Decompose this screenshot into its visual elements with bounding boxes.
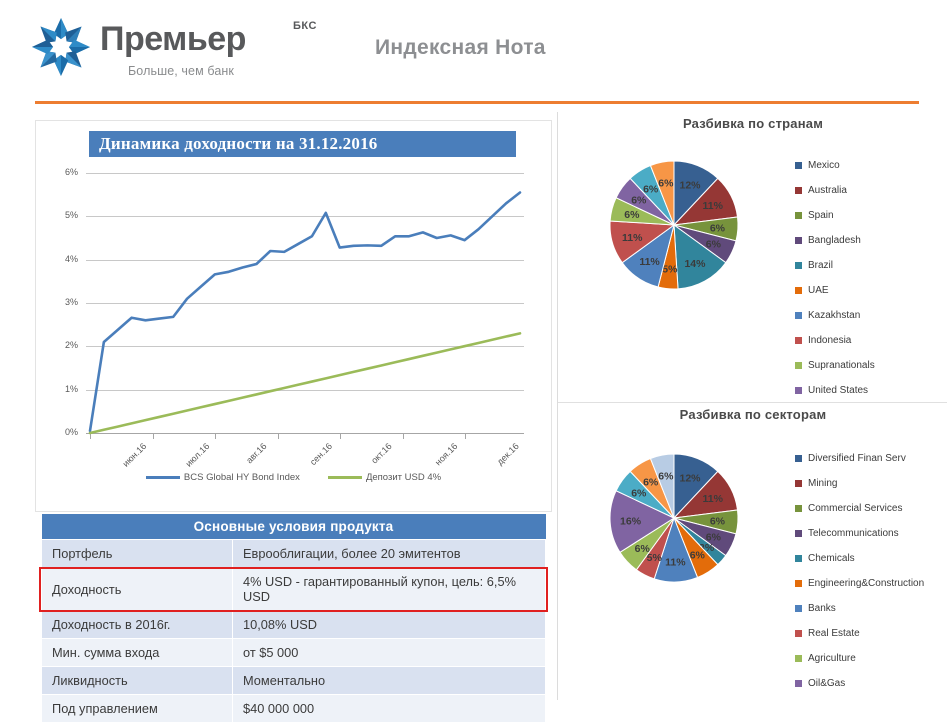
pie-slice-value-label: 11% bbox=[703, 200, 724, 212]
pie-chart: 12%11%6%6%14%5%11%11%6%6%6%6% bbox=[608, 159, 740, 291]
terms-row-key: Мин. сумма входа bbox=[42, 639, 233, 667]
terms-table-body: ПортфельЕврооблигации, более 20 эмитенто… bbox=[42, 540, 546, 723]
pie-slice-value-label: 6% bbox=[643, 476, 659, 488]
pie-slice-value-label: 6% bbox=[706, 239, 722, 251]
legend-item: BCS Global HY Bond Index bbox=[146, 472, 300, 483]
logo-tagline: Больше, чем банк bbox=[128, 64, 234, 78]
legend-item: Diversified Finan Serv bbox=[795, 446, 924, 471]
page-title: Индексная Нота bbox=[375, 36, 546, 60]
product-terms-table: Основные условия продукта ПортфельЕврооб… bbox=[41, 514, 546, 723]
legend-swatch bbox=[795, 212, 802, 219]
pie-chart: 12%11%6%6%3%6%11%5%6%16%6%6%6% bbox=[608, 452, 740, 584]
bcs-flower-logo-icon bbox=[28, 14, 94, 80]
terms-row-value: от $5 000 bbox=[233, 639, 546, 667]
pie-slice-value-label: 16% bbox=[620, 516, 642, 528]
performance-chart-panel: Динамика доходности на 31.12.2016 0%1%2%… bbox=[35, 120, 552, 512]
legend-swatch bbox=[795, 187, 802, 194]
table-row: Доходность в 2016г.10,08% USD bbox=[42, 611, 546, 639]
legend-swatch bbox=[795, 237, 802, 244]
series-line bbox=[90, 333, 520, 433]
logo-brand-text: Премьер bbox=[100, 20, 246, 58]
table-row: ПортфельЕврооблигации, более 20 эмитенто… bbox=[42, 540, 546, 568]
legend-swatch bbox=[795, 337, 802, 344]
legend-swatch bbox=[795, 287, 802, 294]
terms-table-header: Основные условия продукта bbox=[42, 514, 546, 540]
countries-pie-panel: Разбивка по странам 12%11%6%6%14%5%11%11… bbox=[558, 116, 948, 402]
legend-swatch bbox=[795, 312, 802, 319]
sectors-pie-title: Разбивка по секторам bbox=[558, 407, 948, 422]
legend-item: Australia bbox=[795, 178, 875, 203]
legend-item: Chemicals bbox=[795, 546, 924, 571]
legend-item: Spain bbox=[795, 203, 875, 228]
terms-row-value: 4% USD - гарантированный купон, цель: 6,… bbox=[233, 568, 546, 611]
legend-item: Mexico bbox=[795, 153, 875, 178]
legend-label: Telecommunications bbox=[808, 528, 899, 539]
pie-slice-value-label: 6% bbox=[643, 183, 659, 195]
legend-swatch bbox=[795, 262, 802, 269]
legend-swatch bbox=[328, 476, 362, 479]
legend-swatch bbox=[795, 162, 802, 169]
left-column: Динамика доходности на 31.12.2016 0%1%2%… bbox=[0, 112, 557, 710]
table-row: Доходность4% USD - гарантированный купон… bbox=[42, 568, 546, 611]
sectors-pie-wrap: 12%11%6%6%3%6%11%5%6%16%6%6%6%Diversifie… bbox=[558, 422, 948, 687]
pie-slice-value-label: 6% bbox=[631, 194, 647, 206]
legend-label: Engineering&Construction bbox=[808, 578, 924, 589]
pie-slice-value-label: 6% bbox=[690, 550, 706, 562]
pie-slice-value-label: 6% bbox=[658, 177, 674, 189]
table-row: Мин. сумма входаот $5 000 bbox=[42, 639, 546, 667]
pie-slice-value-label: 12% bbox=[680, 180, 702, 192]
pie-slice-value-label: 6% bbox=[710, 223, 726, 235]
legend-item: United States bbox=[795, 378, 875, 403]
performance-chart-legend: BCS Global HY Bond IndexДепозит USD 4% bbox=[36, 469, 551, 489]
terms-row-value: $40 000 000 bbox=[233, 695, 546, 723]
legend-label: UAE bbox=[808, 285, 829, 296]
right-column: Разбивка по странам 12%11%6%6%14%5%11%11… bbox=[558, 112, 948, 710]
legend-label: Oil&Gas bbox=[808, 678, 845, 689]
legend-label: Diversified Finan Serv bbox=[808, 453, 906, 464]
countries-pie-title: Разбивка по странам bbox=[558, 116, 948, 131]
legend-label: BCS Global HY Bond Index bbox=[184, 472, 300, 483]
legend-label: Indonesia bbox=[808, 335, 851, 346]
series-line bbox=[90, 193, 520, 431]
legend-swatch bbox=[795, 362, 802, 369]
terms-row-value: Моментально bbox=[233, 667, 546, 695]
sectors-pie-panel: Разбивка по секторам 12%11%6%6%3%6%11%5%… bbox=[558, 407, 948, 707]
pie-slice-value-label: 6% bbox=[624, 209, 640, 221]
legend-swatch bbox=[795, 505, 802, 512]
pie-slice-value-label: 6% bbox=[635, 543, 651, 555]
pie-slice-value-label: 6% bbox=[710, 516, 726, 528]
legend-swatch bbox=[795, 680, 802, 687]
legend-swatch bbox=[795, 387, 802, 394]
performance-chart-series bbox=[36, 165, 551, 455]
header-divider-rule bbox=[35, 101, 919, 104]
legend-swatch bbox=[795, 480, 802, 487]
legend-item: Agriculture bbox=[795, 646, 924, 671]
legend-label: Kazakhstan bbox=[808, 310, 860, 321]
pie-slice-value-label: 11% bbox=[622, 232, 643, 244]
legend-item: Indonesia bbox=[795, 328, 875, 353]
legend-swatch bbox=[795, 605, 802, 612]
legend-item: Real Estate bbox=[795, 621, 924, 646]
pie-legend: MexicoAustraliaSpainBangladeshBrazilUAEK… bbox=[795, 153, 875, 403]
legend-item: Oil&Gas bbox=[795, 671, 924, 696]
legend-item: Kazakhstan bbox=[795, 303, 875, 328]
pie-slice-value-label: 11% bbox=[665, 556, 686, 568]
legend-swatch bbox=[146, 476, 180, 479]
terms-row-value: Еврооблигации, более 20 эмитентов bbox=[233, 540, 546, 568]
legend-item: Telecommunications bbox=[795, 521, 924, 546]
legend-label: Real Estate bbox=[808, 628, 860, 639]
pie-slice-value-label: 11% bbox=[703, 493, 724, 505]
brand-logo: Премьер БКС Больше, чем банк bbox=[28, 12, 268, 84]
legend-item: Banks bbox=[795, 596, 924, 621]
performance-chart-plot: 0%1%2%3%4%5%6%июн.16июл.16авг.16сен.16ок… bbox=[36, 165, 551, 455]
legend-label: Banks bbox=[808, 603, 836, 614]
legend-label: Australia bbox=[808, 185, 847, 196]
legend-label: Chemicals bbox=[808, 553, 855, 564]
pie-slice-value-label: 12% bbox=[680, 473, 702, 485]
performance-chart-title-bar: Динамика доходности на 31.12.2016 bbox=[89, 131, 516, 157]
logo-superscript-bks: БКС bbox=[293, 20, 317, 32]
legend-swatch bbox=[795, 530, 802, 537]
legend-label: Spain bbox=[808, 210, 834, 221]
legend-label: Депозит USD 4% bbox=[366, 472, 441, 483]
countries-pie-wrap: 12%11%6%6%14%5%11%11%6%6%6%6%MexicoAustr… bbox=[558, 131, 948, 383]
legend-swatch bbox=[795, 630, 802, 637]
pie-slice-value-label: 6% bbox=[631, 487, 647, 499]
legend-swatch bbox=[795, 555, 802, 562]
terms-row-key: Портфель bbox=[42, 540, 233, 568]
legend-label: Commercial Services bbox=[808, 503, 902, 514]
terms-row-key: Ликвидность bbox=[42, 667, 233, 695]
legend-item: Engineering&Construction bbox=[795, 571, 924, 596]
legend-label: Agriculture bbox=[808, 653, 856, 664]
legend-label: Supranationals bbox=[808, 360, 875, 371]
legend-label: Mining bbox=[808, 478, 837, 489]
terms-row-key: Доходность в 2016г. bbox=[42, 611, 233, 639]
legend-label: Brazil bbox=[808, 260, 833, 271]
legend-label: Mexico bbox=[808, 160, 840, 171]
legend-item: Supranationals bbox=[795, 353, 875, 378]
pie-slice-value-label: 5% bbox=[662, 263, 678, 275]
legend-item: Депозит USD 4% bbox=[328, 472, 441, 483]
legend-item: Mining bbox=[795, 471, 924, 496]
table-row: Под управлением$40 000 000 bbox=[42, 695, 546, 723]
pie-slice-value-label: 14% bbox=[684, 258, 706, 270]
legend-swatch bbox=[795, 455, 802, 462]
pie-slice-value-label: 11% bbox=[639, 256, 660, 268]
terms-row-key: Под управлением bbox=[42, 695, 233, 723]
logo-wordmark: Премьер БКС Больше, чем банк bbox=[100, 20, 246, 58]
legend-item: UAE bbox=[795, 278, 875, 303]
performance-chart-title: Динамика доходности на 31.12.2016 bbox=[99, 134, 377, 154]
table-row: ЛиквидностьМоментально bbox=[42, 667, 546, 695]
pie-legend: Diversified Finan ServMiningCommercial S… bbox=[795, 446, 924, 696]
legend-item: Brazil bbox=[795, 253, 875, 278]
terms-row-value: 10,08% USD bbox=[233, 611, 546, 639]
legend-swatch bbox=[795, 655, 802, 662]
page-header: Премьер БКС Больше, чем банк Индексная Н… bbox=[0, 0, 948, 100]
legend-label: United States bbox=[808, 385, 868, 396]
legend-item: Bangladesh bbox=[795, 228, 875, 253]
legend-item: Commercial Services bbox=[795, 496, 924, 521]
legend-label: Bangladesh bbox=[808, 235, 861, 246]
terms-table-grid: Основные условия продукта ПортфельЕврооб… bbox=[41, 514, 546, 723]
terms-row-key: Доходность bbox=[42, 568, 233, 611]
legend-swatch bbox=[795, 580, 802, 587]
pie-slice-value-label: 6% bbox=[658, 470, 674, 482]
